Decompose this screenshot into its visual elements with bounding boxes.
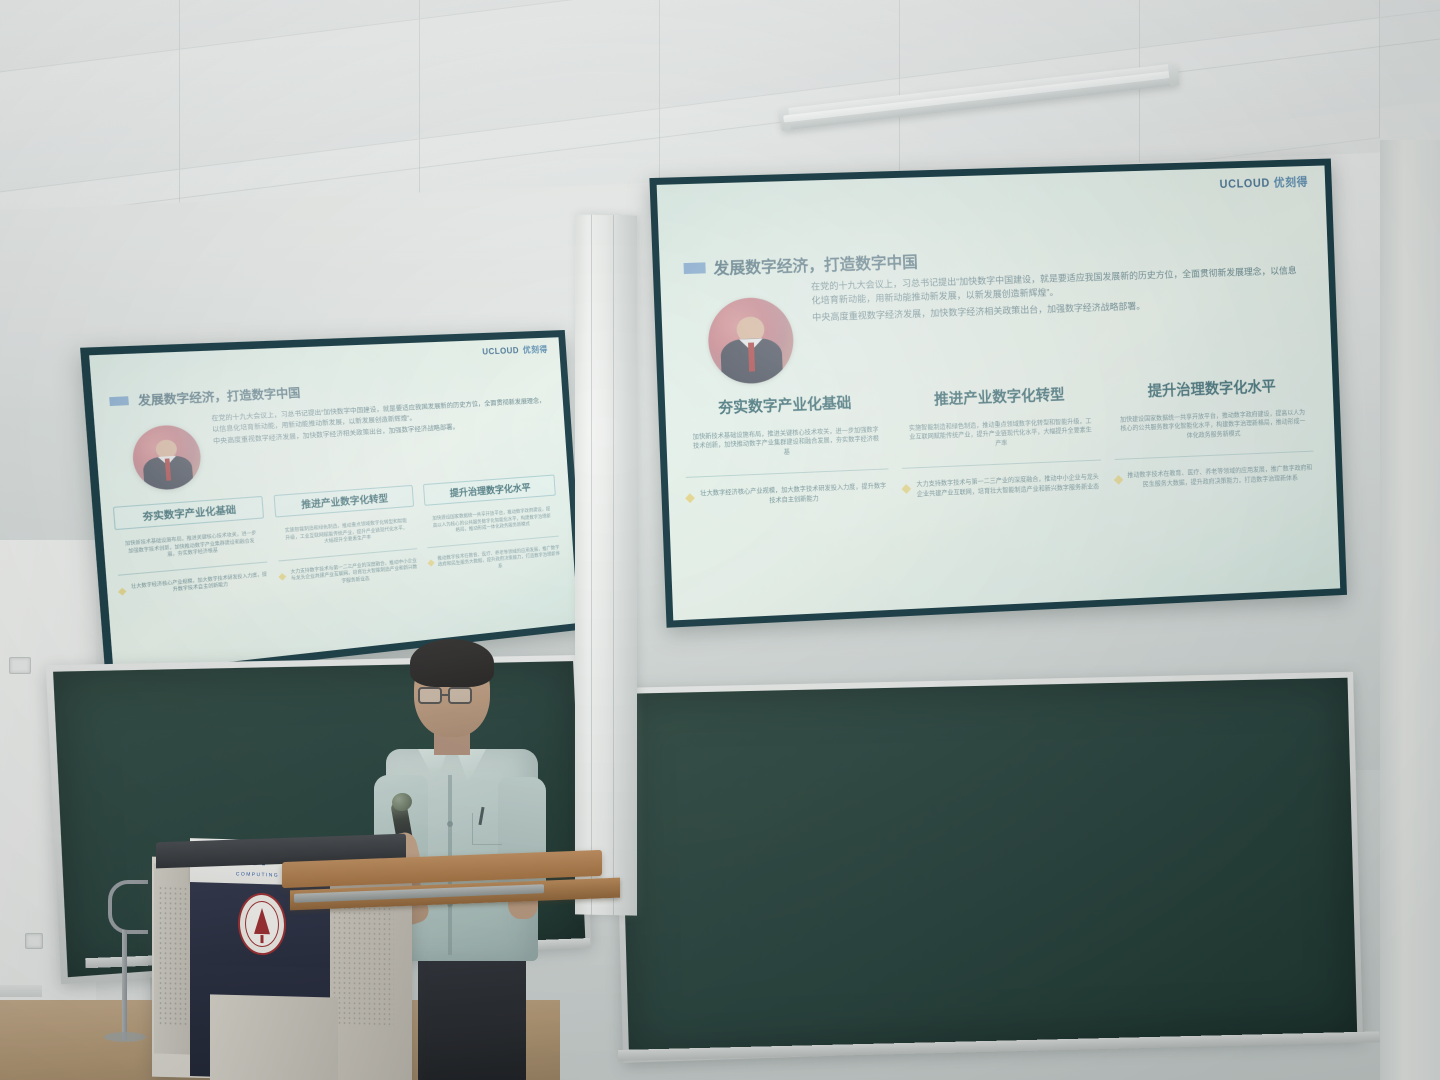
- wall-pillar-center: [575, 214, 637, 915]
- ucloud-logo-right: UCLOUD优刻得: [1219, 174, 1308, 192]
- projection-screen-left: UCLOUD优刻得 发展数字经济，打造数字中国 在党的十九大会议上，习总书记提出…: [80, 330, 585, 684]
- glasses-icon: [418, 687, 442, 704]
- wall-outlet-lower: [25, 933, 43, 949]
- bullet-diamond-icon: [118, 588, 126, 596]
- slide-left: UCLOUD优刻得 发展数字经济，打造数字中国 在党的十九大会议上，习总书记提出…: [89, 337, 578, 675]
- slide-column-2-right: 提升治理数字化水平 加快建设国家数据统一共享开放平台，推动数字政府建设，提高以人…: [1112, 374, 1315, 491]
- lectern-speaker-grille-right: [332, 895, 394, 1027]
- slide-paragraphs-left: 在党的十九大会议上，习总书记提出“加快数字中国建设，就是要适应我国发展新的历史方…: [211, 396, 547, 450]
- lectern-base: [210, 994, 338, 1080]
- presenter-hair: [410, 639, 494, 687]
- slide-column-0-right: 夯实数字产业化基础 加快新技术基础设施布局，推进关键核心技术攻关，进一步加强数字…: [683, 390, 890, 509]
- glasses-icon: [448, 687, 472, 704]
- wall-pillar-right: [1380, 140, 1440, 1080]
- icp-logo-subtext: COMPUTING: [236, 871, 279, 878]
- slide-title-left: 发展数字经济，打造数字中国: [137, 384, 301, 409]
- blackboard-right: [613, 672, 1363, 1063]
- slide-column-1-right: 推进产业数字化转型 实施智能制造和绿色制造，推动重点领域数字化转型和智能升级，工…: [899, 382, 1102, 500]
- slide-column-1-left: 推进产业数字化转型 实施智能制造和绿色制造，推动重点领域数字化转型和智能升级，工…: [274, 485, 420, 591]
- slide-title-right: 发展数字经济，打造数字中国: [713, 249, 918, 279]
- slide-column-2-left: 提升治理数字化水平 加快建设国家数据统一共享开放平台，推动数字政府建设，提高以人…: [423, 474, 561, 576]
- lectern-speaker-grille-left: [158, 886, 188, 1027]
- title-marker-right: [683, 262, 705, 274]
- bullet-diamond-icon: [427, 559, 434, 566]
- slide-right: UCLOUD优刻得 发展数字经济，打造数字中国 在党的十九大会议上，习总书记提出…: [657, 165, 1341, 620]
- wall-outlet-upper: [9, 657, 31, 674]
- bullet-diamond-icon: [278, 573, 286, 581]
- bullet-diamond-icon: [685, 494, 695, 504]
- title-marker-left: [109, 396, 129, 406]
- ucloud-logo-left: UCLOUD优刻得: [482, 344, 548, 358]
- bullet-diamond-icon: [902, 484, 912, 494]
- university-emblem-icon: [238, 892, 286, 955]
- wall-skirting: [0, 985, 42, 997]
- presenter-trousers: [418, 955, 526, 1080]
- leader-portrait-left: [131, 424, 203, 492]
- leader-portrait-right: [707, 296, 795, 385]
- slide-column-0-left: 夯实数字产业化基础 加快新技术基础设施布局，推进关键核心技术攻关，进一步加强数字…: [113, 496, 270, 607]
- lectern: ICP COMPUTING: [132, 826, 432, 1080]
- lecture-hall-photo: UCLOUD优刻得 发展数字经济，打造数字中国 在党的十九大会议上，习总书记提出…: [0, 0, 1440, 1080]
- projection-screen-right: UCLOUD优刻得 发展数字经济，打造数字中国 在党的十九大会议上，习总书记提出…: [649, 159, 1347, 628]
- bullet-diamond-icon: [1114, 475, 1123, 485]
